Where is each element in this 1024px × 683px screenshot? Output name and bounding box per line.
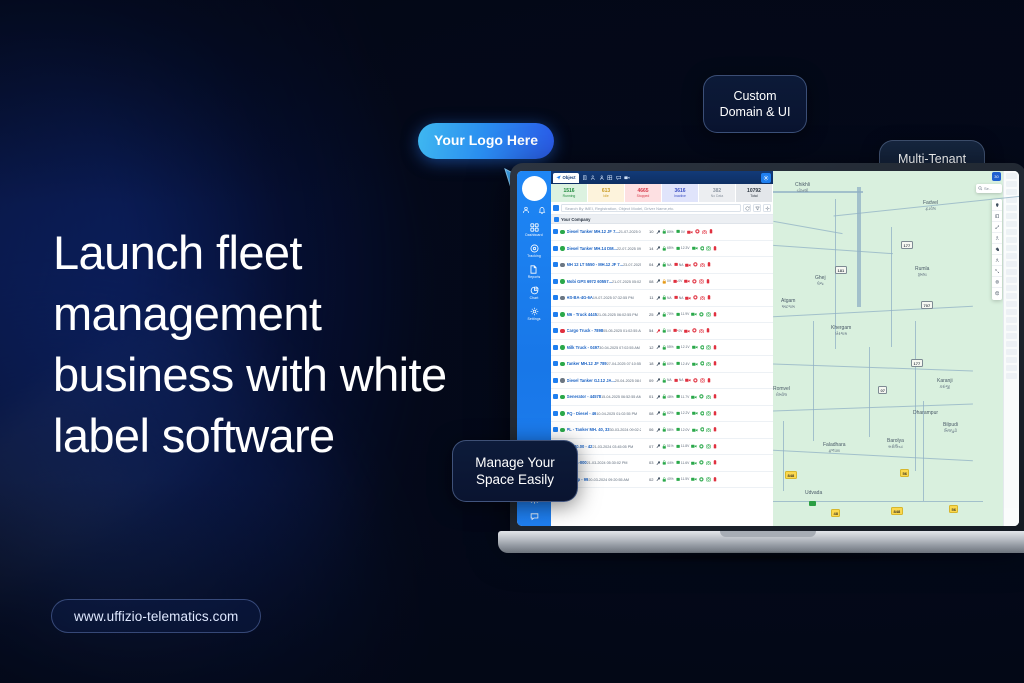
camera-icon[interactable] xyxy=(706,246,711,251)
table-row[interactable]: MH 12 LT 5550 - MH.12 JF 7...23-07-2025 … xyxy=(551,257,773,274)
grid-icon xyxy=(530,223,539,232)
video-icon[interactable] xyxy=(691,477,697,482)
table-row[interactable]: HS-BA-4G-6A19-07-2025 07:32:55 PM11NANA xyxy=(551,290,773,307)
wrench-icon[interactable] xyxy=(656,461,661,466)
map-strip-row xyxy=(1006,293,1017,299)
row-info: Diesel Tanker GJ.12 JA...20-04-2025 08:0… xyxy=(567,378,641,383)
gear-icon xyxy=(530,307,539,316)
person-up-icon[interactable] xyxy=(590,175,596,181)
camera-icon[interactable] xyxy=(706,411,711,416)
object-timestamp: 19-07-2025 07:32:55 PM xyxy=(593,296,634,300)
battery-value: 70% xyxy=(667,312,674,316)
map-strip-row xyxy=(1006,237,1017,243)
battery-value: 80% xyxy=(667,230,674,234)
map-search-box[interactable]: Se... xyxy=(976,184,1002,193)
sidebar-item-dashboard[interactable]: Dashboard xyxy=(525,223,543,237)
lock-badge[interactable]: 58% xyxy=(662,427,674,432)
wrench-icon[interactable] xyxy=(656,428,661,433)
map-tool-palette[interactable] xyxy=(992,199,1002,300)
map-place-label: Fadvelફડવેલ xyxy=(923,201,938,211)
battery-value: 40% xyxy=(667,477,674,481)
building-icon[interactable] xyxy=(582,175,588,181)
sidebar-item-chart[interactable]: Chart xyxy=(530,286,539,300)
table-row[interactable]: PL - Tanker MH. 40, 3330-03-2024 09:02:2… xyxy=(551,422,773,439)
map-strip-row xyxy=(1006,173,1017,179)
grid-icon[interactable] xyxy=(607,175,613,181)
your-logo-here-chip[interactable]: Your Logo Here xyxy=(418,123,554,159)
bell-icon[interactable] xyxy=(538,206,546,214)
wrench-icon[interactable] xyxy=(656,345,661,350)
map-highway-shield: 48 xyxy=(831,509,840,517)
pin-icon[interactable] xyxy=(992,277,1002,288)
fuel-value: 11.8V xyxy=(681,444,689,448)
record-icon[interactable] xyxy=(699,460,704,465)
wrench-icon[interactable] xyxy=(656,477,661,482)
fuel-badge[interactable]: 11.7V xyxy=(676,394,690,399)
record-icon[interactable] xyxy=(700,246,705,251)
row-info: HS-BA-4G-6A19-07-2025 07:32:55 PM xyxy=(567,295,641,300)
wrench-icon[interactable] xyxy=(656,378,661,383)
company-checkbox[interactable] xyxy=(554,217,559,222)
map-strip-row xyxy=(1006,221,1017,227)
status-dot xyxy=(560,263,565,268)
status-dot xyxy=(560,428,565,433)
expand-icon[interactable] xyxy=(992,266,1002,277)
battery-value: NA xyxy=(667,296,672,300)
sidebar-item-settings[interactable]: Settings xyxy=(527,307,540,321)
object-timestamp: 21-03-2024 03:45:05 PM xyxy=(592,445,633,449)
fuel-badge[interactable]: 11.6V xyxy=(676,460,690,465)
table-row[interactable]: Milk Truck - 049730-04-2025 07:02:55 AM1… xyxy=(551,340,773,357)
map-strip-row xyxy=(1006,365,1017,371)
lock-badge[interactable]: 65% xyxy=(662,246,674,251)
fuel-badge[interactable]: 12.1V xyxy=(676,345,690,350)
fuel-badge[interactable]: 11.9V xyxy=(676,312,690,317)
video-icon[interactable] xyxy=(684,279,690,284)
table-row[interactable]: Tire01-00021-03-2024 05:30:02 PM0344%11.… xyxy=(551,455,773,472)
table-row[interactable]: Generator - 4457815-04-2025 06:52:55 AM0… xyxy=(551,389,773,406)
object-speed: 18 xyxy=(643,361,654,366)
wrench-icon[interactable] xyxy=(656,329,661,334)
camera-icon[interactable] xyxy=(700,378,705,383)
fuel-level-icon[interactable] xyxy=(713,427,717,432)
object-speed: 54 xyxy=(643,328,654,333)
user-icon[interactable] xyxy=(522,206,530,214)
fuel-value: 11.9V xyxy=(681,312,689,316)
video-icon[interactable] xyxy=(624,175,630,181)
wrench-icon[interactable] xyxy=(656,279,661,284)
record-icon[interactable] xyxy=(700,427,705,432)
send-plane-icon xyxy=(556,175,561,180)
lock-badge[interactable]: NA xyxy=(662,295,672,300)
map-place-label: Faladharaફળધરા xyxy=(823,443,846,453)
lock-badge[interactable]: 0V xyxy=(662,328,671,333)
status-stat-label: Total xyxy=(750,194,757,198)
record-icon[interactable] xyxy=(693,295,698,300)
battery-value: NA xyxy=(667,263,672,267)
row-info: Cargo Truck - 789805-05-2025 01:02:55 AM xyxy=(567,328,641,333)
table-row[interactable]: MH.40.00 - 4221-03-2024 03:45:05 PM0751%… xyxy=(551,439,773,456)
table-row[interactable]: Diesel Tanker MH.14 DM...22-07-2025 09:0… xyxy=(551,241,773,258)
wrench-icon[interactable] xyxy=(656,263,661,268)
object-name: MH 12 LT 5550 - MH.12 JF 7... xyxy=(567,262,624,267)
object-timestamp: 20-04-2025 08:00:55 PM xyxy=(615,379,641,383)
record-icon[interactable] xyxy=(692,328,697,333)
camera-icon[interactable] xyxy=(702,230,707,235)
tab-object[interactable]: Object xyxy=(553,173,579,183)
row-checkbox[interactable] xyxy=(553,378,558,383)
map-vehicle-marker[interactable] xyxy=(809,501,816,506)
map-layer-badge: 30 xyxy=(994,174,998,179)
map-view[interactable]: 30 Se... ChikhliચીખલીFadvelફડવેલRumlaરૂમ… xyxy=(773,171,1019,526)
row-checkbox[interactable] xyxy=(553,312,558,317)
status-dot xyxy=(560,411,565,416)
object-name: Milk Truck - 0497 xyxy=(567,345,600,350)
row-checkbox[interactable] xyxy=(553,427,558,432)
lock-badge[interactable]: 62% xyxy=(662,411,674,416)
object-name: Diesel Tanker MH.12 JF 7... xyxy=(567,229,619,234)
table-row[interactable]: Cargo Truck - 789805-05-2025 01:02:55 AM… xyxy=(551,323,773,340)
row-info: Generator - 4457815-04-2025 06:52:55 AM xyxy=(567,394,641,399)
fuel-level-icon[interactable] xyxy=(709,229,713,234)
record-icon[interactable] xyxy=(700,411,705,416)
video-icon[interactable] xyxy=(692,428,698,433)
video-icon[interactable] xyxy=(684,329,690,334)
select-all-checkbox[interactable] xyxy=(553,205,559,211)
fuel-value: 11.6V xyxy=(681,461,689,465)
row-checkbox[interactable] xyxy=(553,361,558,366)
status-stat-no-data[interactable]: 382No Data xyxy=(699,184,736,202)
video-icon[interactable] xyxy=(691,444,697,449)
custom-domain-ui-chip[interactable]: Custom Domain & UI xyxy=(703,75,807,133)
fuel-badge[interactable]: 11.5V xyxy=(676,477,690,482)
map-strip-row xyxy=(1006,189,1017,195)
object-name: PQ - Diesel - 46 xyxy=(567,411,597,416)
object-name: Tanker MH.12 JF 789 xyxy=(567,361,607,366)
emoji-icon[interactable] xyxy=(992,288,1002,299)
camera-icon[interactable] xyxy=(706,345,711,350)
refresh-icon[interactable] xyxy=(743,204,751,212)
wrench-icon[interactable] xyxy=(656,312,661,317)
wrench-icon[interactable] xyxy=(656,296,661,301)
person-down-icon[interactable] xyxy=(599,175,605,181)
headline-line-1: Launch fleet xyxy=(53,222,523,283)
camera-icon[interactable] xyxy=(706,477,711,482)
map-highway-shield: 177 xyxy=(911,359,923,367)
fuel-value: 12.1V xyxy=(681,345,690,349)
status-dot xyxy=(560,345,565,350)
lock-badge[interactable]: 51% xyxy=(662,444,674,449)
camera-icon[interactable] xyxy=(700,263,705,268)
fuel-level-icon[interactable] xyxy=(707,295,711,300)
object-list-panel: Object xyxy=(551,171,773,526)
avatar[interactable] xyxy=(522,176,547,201)
fuel-badge[interactable]: 12.2V xyxy=(676,411,690,416)
status-stat-label: Idle xyxy=(603,194,608,198)
table-row[interactable]: Diesel Tanker GJ.12 JA...20-04-2025 08:0… xyxy=(551,373,773,390)
object-speed: 07 xyxy=(643,444,654,449)
map-road xyxy=(773,191,863,193)
fuel-value: 0V xyxy=(678,329,682,333)
lock-badge[interactable]: 55% xyxy=(662,345,674,350)
object-timestamp: 15-04-2025 06:52:55 AM xyxy=(601,395,640,399)
fuel-badge[interactable]: 0V xyxy=(673,279,682,284)
status-stat-value: 3616 xyxy=(674,188,685,194)
map-place-label: Karanjiકરાંજી xyxy=(937,379,953,389)
custom-domain-line-1: Custom xyxy=(720,88,791,104)
object-name: M6 - Truck 4445 xyxy=(567,312,598,317)
video-icon[interactable] xyxy=(687,230,693,235)
table-row[interactable]: M6 - Truck 444521-05-2025 06:02:55 PM257… xyxy=(551,307,773,324)
map-road xyxy=(773,450,973,462)
map-road xyxy=(857,187,861,307)
settings-button[interactable] xyxy=(761,173,771,183)
status-stat-idle[interactable]: 613Idle xyxy=(588,184,625,202)
record-icon[interactable] xyxy=(699,444,704,449)
record-icon[interactable] xyxy=(693,262,698,267)
fuel-level-icon[interactable] xyxy=(707,378,711,383)
map-place-label: Udvada xyxy=(805,491,822,497)
filter-icon[interactable] xyxy=(753,204,761,212)
wrench-icon[interactable] xyxy=(656,362,661,367)
battery-value: NA xyxy=(667,378,672,382)
row-checkbox[interactable] xyxy=(553,345,558,350)
fuel-badge[interactable]: NA xyxy=(674,378,684,383)
camera-icon[interactable] xyxy=(706,461,711,466)
route-icon[interactable] xyxy=(992,222,1002,233)
row-info: M6 - Truck 444521-05-2025 06:02:55 PM xyxy=(567,312,641,317)
record-icon[interactable] xyxy=(692,279,697,284)
chat-icon[interactable] xyxy=(530,512,539,521)
map-place-label: Bilpudiબિલપુડી xyxy=(943,423,958,433)
camera-icon[interactable] xyxy=(699,279,704,284)
your-logo-here-label: Your Logo Here xyxy=(434,132,538,150)
search-input[interactable]: Search By IMEI, Registration, Object Mod… xyxy=(561,204,741,212)
table-row[interactable]: Mobi GPS 6972 60557...21-07-2025 05:02:5… xyxy=(551,274,773,291)
fuel-level-icon[interactable] xyxy=(707,262,711,267)
map-strip-row xyxy=(1006,317,1017,323)
status-stat-label: No Data xyxy=(711,194,723,198)
object-name: Generator - 44578 xyxy=(567,394,602,399)
object-timestamp: 05-05-2025 01:02:55 AM xyxy=(603,329,640,333)
sidebar-item-label: Chart xyxy=(530,296,539,300)
fuel-level-icon[interactable] xyxy=(713,411,717,416)
object-timestamp: 30-04-2025 07:02:55 AM xyxy=(599,346,640,350)
fuel-badge[interactable]: 12.4V xyxy=(676,361,690,366)
camera-icon[interactable] xyxy=(700,296,705,301)
lock-badge[interactable]: 60% xyxy=(662,361,674,366)
website-url-label: www.uffizio-telematics.com xyxy=(74,609,238,624)
video-icon[interactable] xyxy=(685,296,691,301)
fuel-badge[interactable]: 0V xyxy=(673,328,682,333)
row-checkbox[interactable] xyxy=(553,394,558,399)
fuel-value: 0V xyxy=(678,279,682,283)
fuel-level-icon[interactable] xyxy=(713,460,717,465)
status-stat-value: 382 xyxy=(713,188,721,194)
fuel-value: NA xyxy=(679,378,684,382)
fuel-value: 12.3V xyxy=(681,246,690,250)
record-icon[interactable] xyxy=(699,394,704,399)
camera-icon[interactable] xyxy=(699,329,704,334)
row-checkbox[interactable] xyxy=(553,229,558,234)
status-dot xyxy=(560,329,565,334)
sidebar-item-reports[interactable]: Reports xyxy=(528,265,541,279)
fuel-badge[interactable]: NA xyxy=(674,262,684,267)
record-icon[interactable] xyxy=(700,345,705,350)
laptop-screen: Dashboard Tracking Reports xyxy=(517,171,1019,526)
status-stat-stopped[interactable]: 4665Stopped xyxy=(625,184,662,202)
record-icon[interactable] xyxy=(693,378,698,383)
object-list[interactable]: Diesel Tanker MH.12 JF 7...21-07-2025 01… xyxy=(551,224,773,526)
map-road xyxy=(869,347,870,437)
map-strip-row xyxy=(1006,253,1017,259)
map-strip-row xyxy=(1006,245,1017,251)
camera-icon[interactable] xyxy=(706,444,711,449)
record-icon[interactable] xyxy=(695,229,700,234)
fuel-level-icon[interactable] xyxy=(713,444,717,449)
row-checkbox[interactable] xyxy=(553,295,558,300)
fuel-badge[interactable]: 11.8V xyxy=(676,444,690,449)
object-speed: 14 xyxy=(643,246,654,251)
status-stat-total[interactable]: 10792Total xyxy=(736,184,773,202)
map-road xyxy=(773,501,983,502)
headline-line-2: management xyxy=(53,283,523,344)
lock-badge[interactable]: 48% xyxy=(662,394,674,399)
lock-badge[interactable]: 40% xyxy=(662,477,674,482)
manage-your-space-chip[interactable]: Manage Your Space Easily xyxy=(452,440,578,502)
camera-icon[interactable] xyxy=(706,312,711,317)
map-layer-button[interactable]: 30 xyxy=(992,172,1001,181)
table-row[interactable]: Diesel Tanker MH.12 JF 7...21-07-2025 01… xyxy=(551,224,773,241)
camera-icon[interactable] xyxy=(706,395,711,400)
fuel-level-icon[interactable] xyxy=(713,312,717,317)
wrench-icon[interactable] xyxy=(656,411,661,416)
map-highway-shield: 56 xyxy=(900,469,909,477)
lock-badge[interactable]: 80% xyxy=(662,229,674,234)
manage-space-line-1: Manage Your xyxy=(475,454,555,471)
lock-badge[interactable]: NA xyxy=(662,378,672,383)
object-name: Diesel Tanker GJ.12 JA... xyxy=(567,378,615,383)
document-icon xyxy=(529,265,538,274)
video-icon[interactable] xyxy=(692,362,698,367)
row-checkbox[interactable] xyxy=(553,328,558,333)
object-speed: 09 xyxy=(643,378,654,383)
video-icon[interactable] xyxy=(691,312,697,317)
lock-badge[interactable]: 44% xyxy=(662,460,674,465)
object-speed: 06 xyxy=(643,427,654,432)
map-road xyxy=(773,221,842,234)
wrench-icon[interactable] xyxy=(656,395,661,400)
map-strip-row xyxy=(1006,373,1017,379)
sidebar-item-label: Reports xyxy=(528,275,541,279)
table-row[interactable]: Tanker MH.12 JF 78927-04-2025 07:10:55 A… xyxy=(551,356,773,373)
object-timestamp: 27-04-2025 07:10:55 AM xyxy=(607,362,641,366)
chat-icon[interactable] xyxy=(616,175,622,181)
fuel-badge[interactable]: 12.3V xyxy=(676,246,690,251)
fuel-level-icon[interactable] xyxy=(706,328,710,333)
status-stat-value: 1516 xyxy=(563,188,574,194)
record-icon[interactable] xyxy=(699,312,704,317)
pie-chart-icon xyxy=(530,286,539,295)
lock-badge[interactable]: 70% xyxy=(662,312,674,317)
fuel-level-icon[interactable] xyxy=(713,394,717,399)
wrench-icon[interactable] xyxy=(656,444,661,449)
fuel-level-icon[interactable] xyxy=(713,477,717,482)
fuel-value: 11.7V xyxy=(681,395,689,399)
map-strip-row xyxy=(1006,285,1017,291)
fuel-badge[interactable]: NA xyxy=(674,295,684,300)
fuel-badge[interactable]: 0V xyxy=(676,229,685,234)
video-icon[interactable] xyxy=(685,263,691,268)
wrench-icon[interactable] xyxy=(656,230,661,235)
video-icon[interactable] xyxy=(691,461,697,466)
table-row[interactable]: Laptop - 9920-03-2024 09:20:55 AM0240%11… xyxy=(551,472,773,489)
fuel-badge[interactable]: 12.0V xyxy=(676,427,690,432)
video-icon[interactable] xyxy=(692,411,698,416)
website-url-pill[interactable]: www.uffizio-telematics.com xyxy=(51,599,261,633)
video-icon[interactable] xyxy=(685,378,691,383)
object-name: PL - Tanker MH. 40, 33 xyxy=(567,427,610,432)
manage-space-line-2: Space Easily xyxy=(475,471,555,488)
fuel-level-icon[interactable] xyxy=(713,361,717,366)
camera-icon[interactable] xyxy=(706,428,711,433)
row-checkbox[interactable] xyxy=(553,262,558,267)
object-speed: 08 xyxy=(643,411,654,416)
marker-icon[interactable] xyxy=(992,200,1002,211)
laptop-lid: Dashboard Tracking Reports xyxy=(510,163,1024,536)
sidebar-item-tracking[interactable]: Tracking xyxy=(527,244,541,258)
map-highway-shield: 848 xyxy=(785,471,797,479)
fuel-level-icon[interactable] xyxy=(713,246,717,251)
fuel-level-icon[interactable] xyxy=(713,345,717,350)
status-stat-inactive[interactable]: 3616Inactive xyxy=(662,184,699,202)
geofence-icon[interactable] xyxy=(992,255,1002,266)
battery-value: 62% xyxy=(667,411,674,415)
object-speed: 04 xyxy=(643,262,654,267)
row-info: PL - Tanker MH. 40, 3330-03-2024 09:02:2… xyxy=(567,427,641,432)
row-checkbox[interactable] xyxy=(553,411,558,416)
app-topbar: Object xyxy=(551,171,773,184)
map-strip-row xyxy=(1006,229,1017,235)
ruler-icon[interactable] xyxy=(992,211,1002,222)
gear-icon[interactable] xyxy=(763,204,771,212)
video-icon[interactable] xyxy=(692,345,698,350)
lock-badge[interactable]: 0V xyxy=(662,279,671,284)
company-group-header[interactable]: Your Company xyxy=(551,215,773,224)
lock-badge[interactable]: NA xyxy=(662,262,672,267)
tag-icon[interactable] xyxy=(992,244,1002,255)
object-speed: 10 xyxy=(643,229,654,234)
camera-icon[interactable] xyxy=(706,362,711,367)
status-stat-value: 4665 xyxy=(637,188,648,194)
video-icon[interactable] xyxy=(691,395,697,400)
status-stat-running[interactable]: 1516Running xyxy=(551,184,588,202)
record-icon[interactable] xyxy=(699,477,704,482)
fuel-level-icon[interactable] xyxy=(706,279,710,284)
row-checkbox[interactable] xyxy=(553,279,558,284)
map-road xyxy=(891,227,892,347)
fuel-value: 12.2V xyxy=(681,411,690,415)
wrench-icon[interactable] xyxy=(656,246,661,251)
map-road xyxy=(773,364,973,372)
headline-line-3: business with white xyxy=(53,344,523,405)
record-icon[interactable] xyxy=(700,361,705,366)
row-checkbox[interactable] xyxy=(553,246,558,251)
status-dot xyxy=(560,246,565,251)
video-icon[interactable] xyxy=(692,246,698,251)
table-row[interactable]: PQ - Diesel - 4610-04-2025 01:02:55 PM08… xyxy=(551,406,773,423)
person-icon[interactable] xyxy=(992,233,1002,244)
